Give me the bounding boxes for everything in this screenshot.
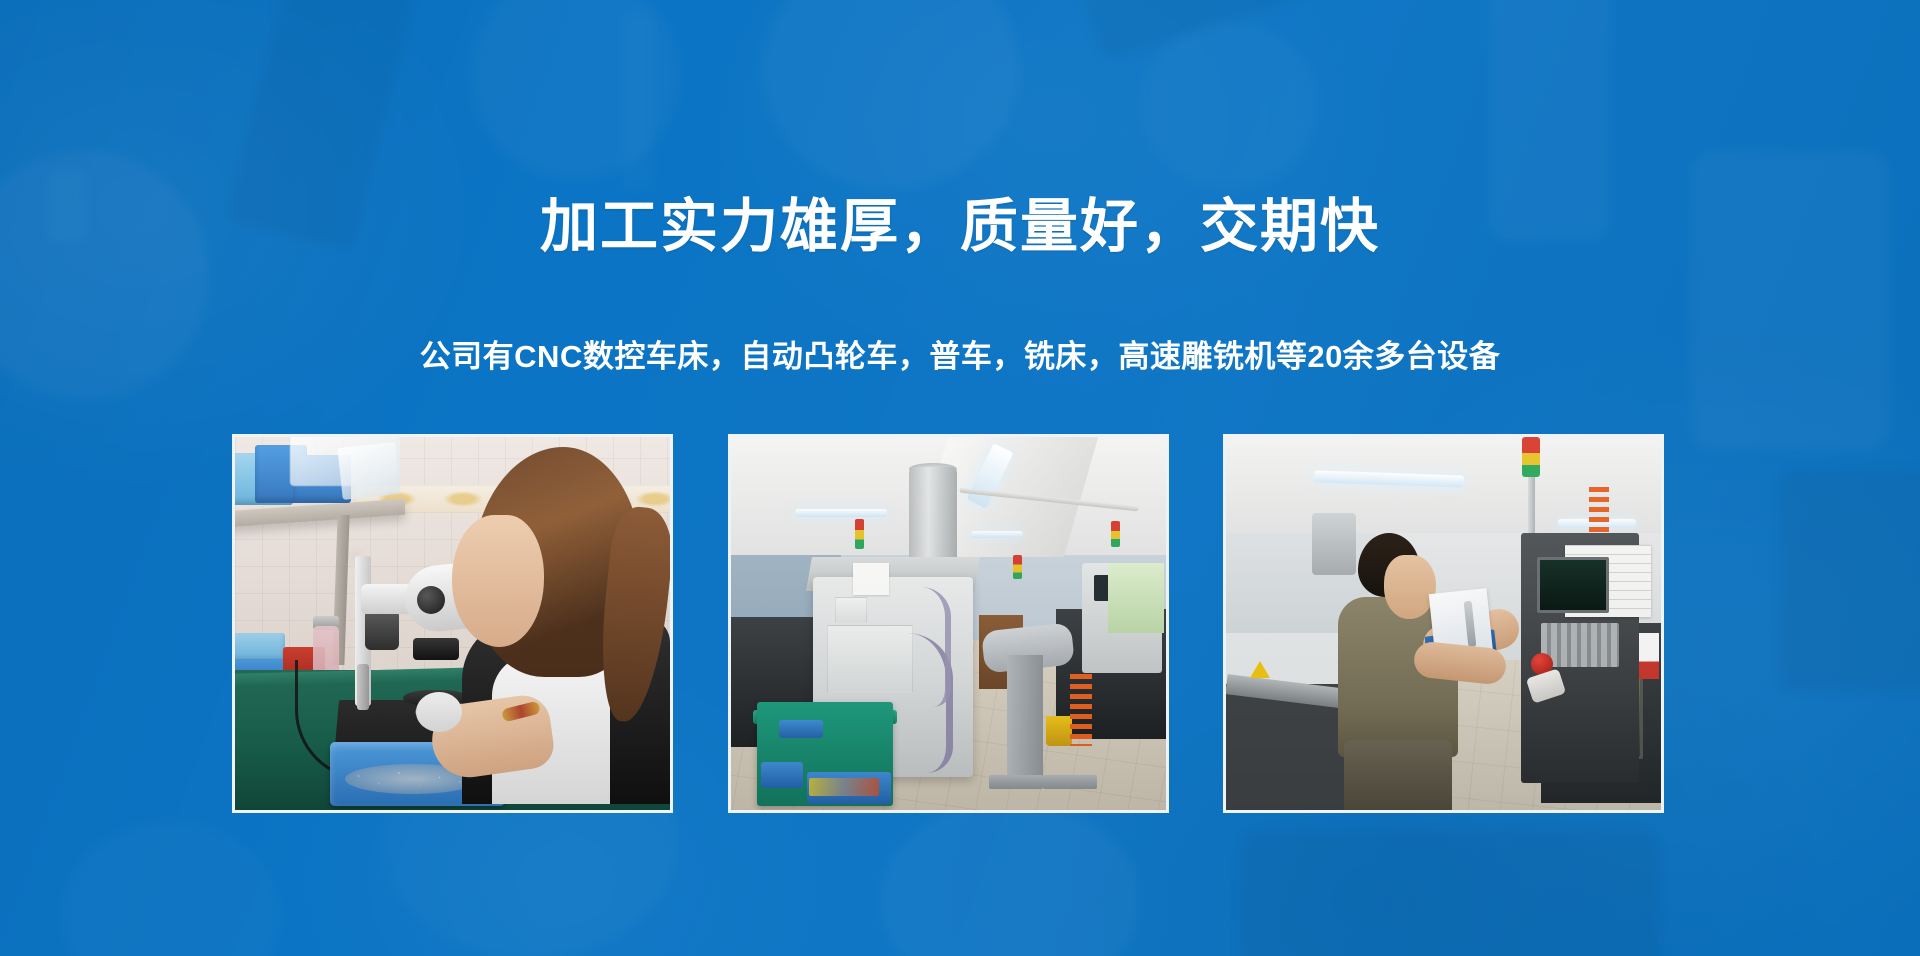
worker-hand-glove — [416, 692, 462, 732]
photo-3-content — [1226, 437, 1661, 810]
machine-sub-panel — [835, 597, 867, 623]
hand-tools — [809, 778, 879, 796]
status-light-tower — [1013, 555, 1022, 579]
orange-air-coil — [1589, 487, 1609, 537]
microscope-focus-knob-block — [365, 610, 399, 650]
orange-air-coil — [1070, 674, 1092, 746]
operator-face — [1384, 555, 1436, 619]
operator-pants — [1344, 740, 1452, 810]
promo-banner: 加工实力雄厚，质量好，交期快 公司有CNC数控车床，自动凸轮车，普车，铣床，高速… — [0, 0, 1920, 956]
gallery-photo-quality-inspection-microscope[interactable] — [232, 434, 673, 813]
status-light-tower — [855, 519, 864, 549]
conveyor-stand — [1007, 655, 1043, 781]
photo-1-content — [235, 437, 670, 810]
watermark-part-block — [1780, 470, 1920, 690]
photo-gallery — [232, 434, 1664, 814]
worker-face — [452, 515, 544, 647]
yellow-bucket — [1046, 716, 1072, 746]
machine-access-panel — [827, 625, 913, 693]
watermark-part-ring — [760, 0, 1020, 190]
microscope-objective-lens — [413, 638, 459, 660]
status-light-tower — [1522, 437, 1540, 477]
watermark-part-rod — [1076, 0, 1503, 63]
ceiling-light-tube — [971, 531, 1023, 538]
machine-cylinder — [909, 467, 957, 567]
cnc-display-screen — [1537, 557, 1609, 613]
banner-headline: 加工实力雄厚，质量好，交期快 — [0, 194, 1920, 261]
microscope-zoom-knob — [417, 586, 445, 614]
machine-posted-paper — [853, 563, 889, 595]
watermark-part-spacer — [1240, 830, 1660, 956]
gallery-photo-operator-at-cnc-panel[interactable] — [1223, 434, 1664, 813]
coolant-hose — [921, 587, 951, 707]
cnc-keypad — [1541, 623, 1619, 667]
gallery-photo-cnc-machine-workshop[interactable] — [728, 434, 1169, 813]
status-light-tower — [1111, 521, 1120, 547]
watermark-part-pin — [620, 10, 654, 190]
watermark-part-nut — [880, 800, 1140, 956]
watermark-part-bushing — [470, 0, 680, 180]
banner-subtitle: 公司有CNC数控车床，自动凸轮车，普车，铣床，高速雕铣机等20余多台设备 — [0, 338, 1920, 375]
wall-motif — [443, 491, 483, 507]
photo-2-content — [731, 437, 1166, 810]
tool-cart-bin — [761, 762, 803, 788]
plastic-bag — [337, 442, 400, 500]
workshop-window — [1108, 563, 1164, 633]
left-machine-vent — [1312, 513, 1356, 575]
ceiling-light-tube — [795, 509, 887, 517]
watermark-part-cap — [1140, 20, 1320, 190]
machine-foot — [989, 775, 1043, 789]
machine-foot — [1043, 775, 1097, 789]
wall-motif — [635, 491, 670, 507]
microscope-column-shaft — [357, 664, 369, 710]
watermark-part-collar — [60, 820, 280, 956]
tool-cart-bin — [779, 720, 823, 738]
warning-label-icon — [1250, 661, 1270, 678]
